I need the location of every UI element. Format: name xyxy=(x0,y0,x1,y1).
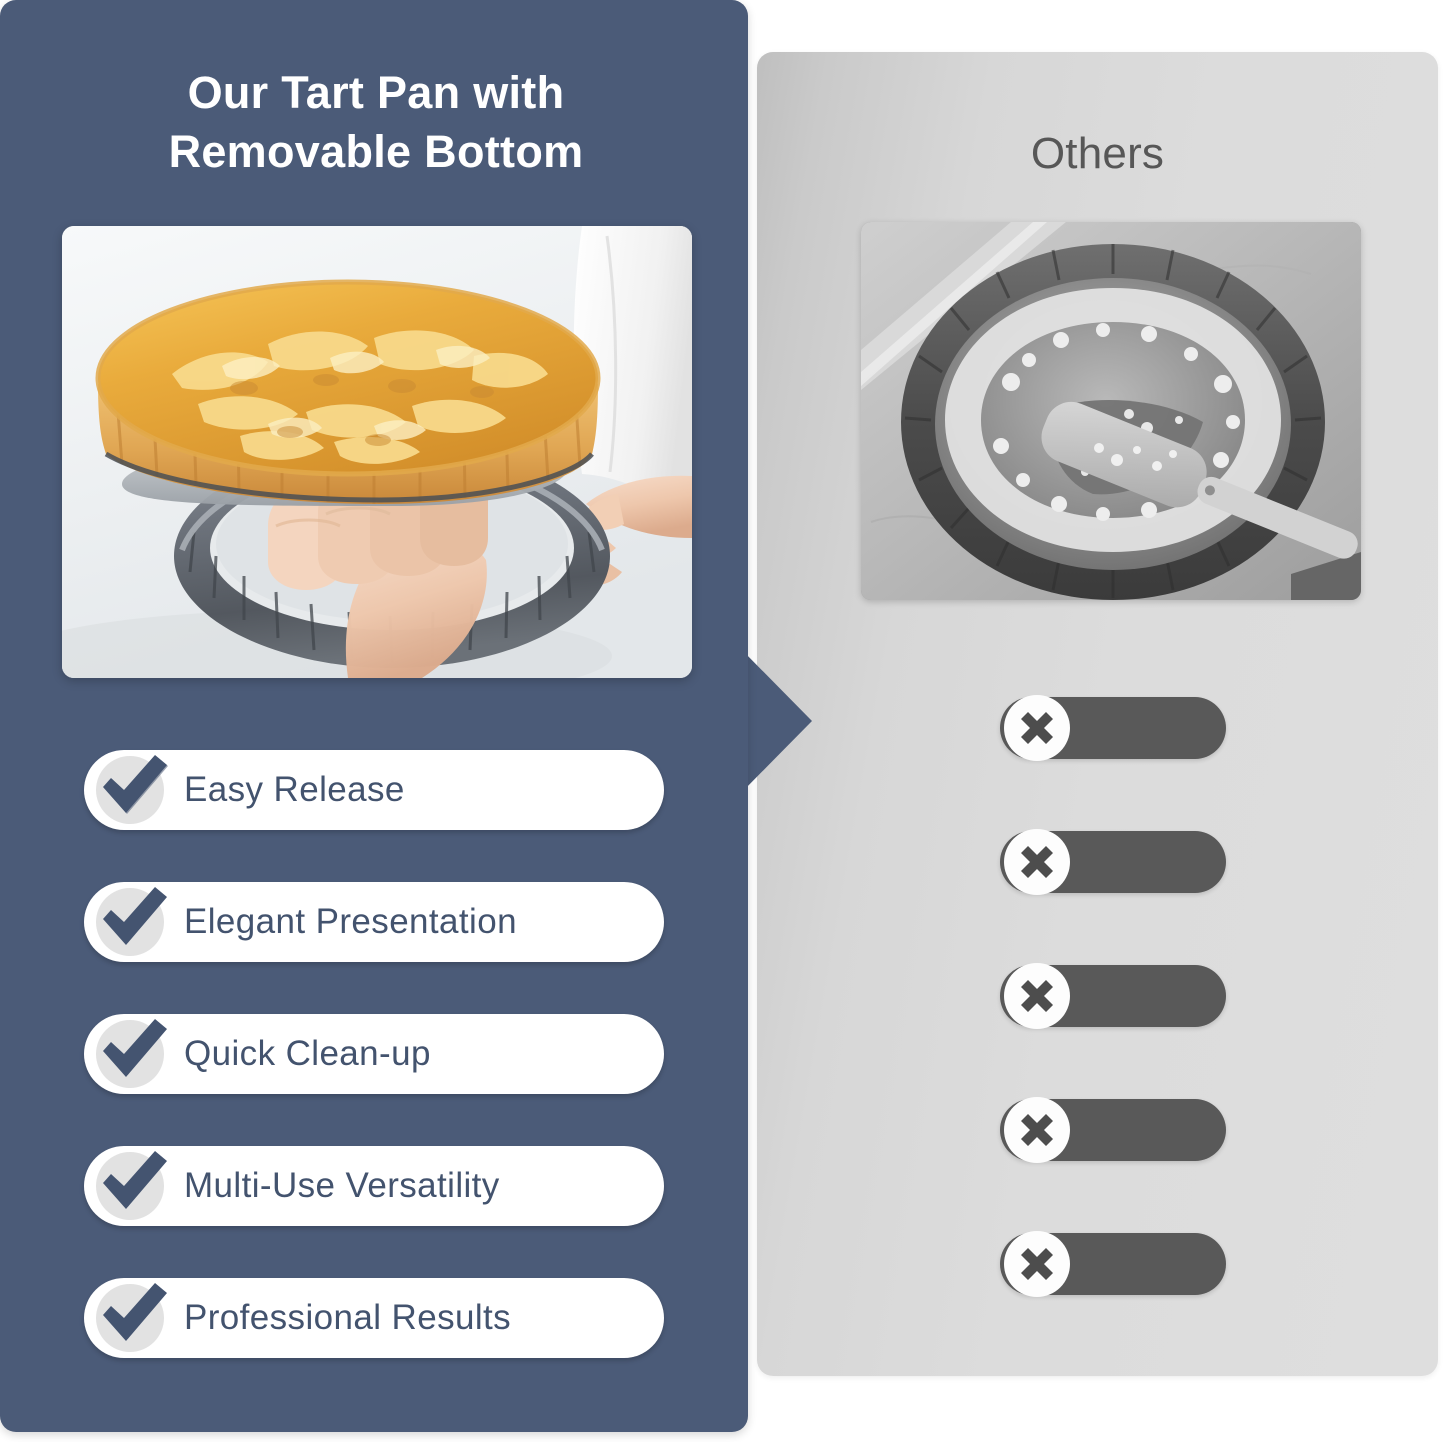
check-icon xyxy=(96,1152,164,1220)
others-x-pill xyxy=(1000,697,1226,759)
others-panel-title: Others xyxy=(757,129,1438,179)
x-icon xyxy=(1004,963,1070,1029)
others-x-pill xyxy=(1000,965,1226,1027)
tart-pan-removable-bottom-photo xyxy=(62,226,692,678)
check-icon xyxy=(96,756,164,824)
ours-title-line-1: Our Tart Pan with xyxy=(188,67,565,118)
others-x-pill xyxy=(1000,1233,1226,1295)
feature-label: Elegant Presentation xyxy=(184,902,517,942)
x-icon-glyph xyxy=(1015,974,1059,1018)
feature-label: Easy Release xyxy=(184,770,405,810)
feature-pill-easy-release: Easy Release xyxy=(84,750,664,830)
others-panel: Others xyxy=(757,52,1438,1376)
x-icon-glyph xyxy=(1015,840,1059,884)
check-icon xyxy=(96,1020,164,1088)
check-icon xyxy=(96,1284,164,1352)
ours-feature-list: Easy Release Elegant Presentation xyxy=(84,750,664,1358)
x-icon xyxy=(1004,829,1070,895)
comparison-infographic: Others xyxy=(0,0,1445,1442)
others-x-list xyxy=(1000,697,1230,1295)
feature-label: Multi-Use Versatility xyxy=(184,1166,500,1206)
x-icon-glyph xyxy=(1015,706,1059,750)
feature-pill-quick-clean-up: Quick Clean-up xyxy=(84,1014,664,1094)
feature-label: Quick Clean-up xyxy=(184,1034,431,1074)
ours-title-line-2: Removable Bottom xyxy=(169,126,584,177)
feature-pill-professional-results: Professional Results xyxy=(84,1278,664,1358)
x-icon-glyph xyxy=(1015,1108,1059,1152)
check-icon-glyph xyxy=(92,744,176,828)
check-icon-glyph xyxy=(92,1272,176,1356)
others-x-pill xyxy=(1000,1099,1226,1161)
stuck-crust-tart-pan-photo xyxy=(861,222,1361,600)
stuck-crust-illustration xyxy=(861,222,1361,600)
check-icon-glyph xyxy=(92,1008,176,1092)
x-icon xyxy=(1004,1097,1070,1163)
check-icon-glyph xyxy=(92,1140,176,1224)
ours-panel: Our Tart Pan with Removable Bottom xyxy=(0,0,748,1432)
tart-lift-illustration xyxy=(62,226,692,678)
x-icon-glyph xyxy=(1015,1242,1059,1286)
others-x-pill xyxy=(1000,831,1226,893)
check-icon xyxy=(96,888,164,956)
ours-panel-title: Our Tart Pan with Removable Bottom xyxy=(46,63,706,182)
feature-pill-elegant-presentation: Elegant Presentation xyxy=(84,882,664,962)
feature-label: Professional Results xyxy=(184,1298,511,1338)
check-icon-glyph xyxy=(92,876,176,960)
x-icon xyxy=(1004,1231,1070,1297)
feature-pill-multi-use-versatility: Multi-Use Versatility xyxy=(84,1146,664,1226)
x-icon xyxy=(1004,695,1070,761)
